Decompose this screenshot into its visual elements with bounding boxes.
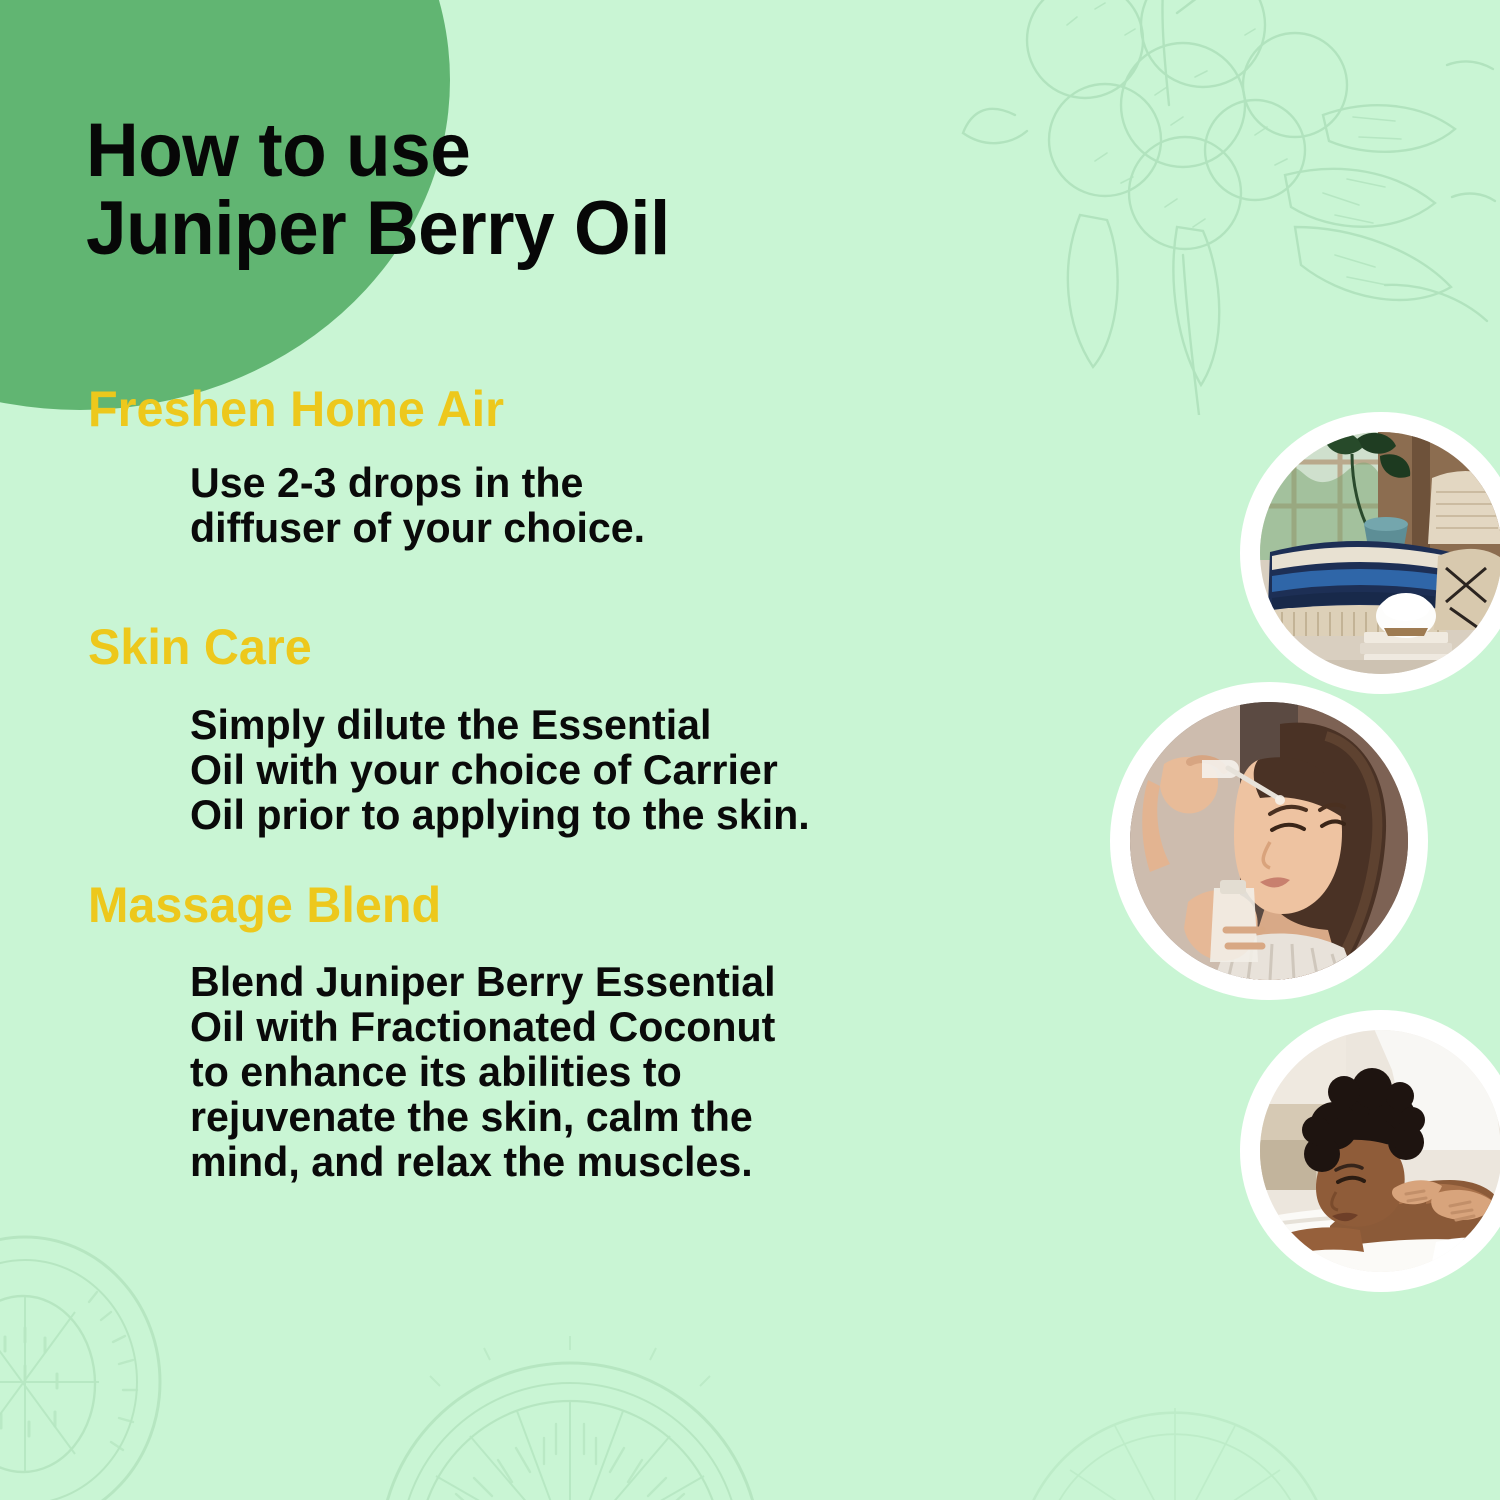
infographic-content: How to use Juniper Berry Oil Freshen Hom… bbox=[0, 0, 1500, 1500]
section-freshen-home-air: Freshen Home Air Use 2-3 drops in the di… bbox=[0, 382, 1020, 550]
photo-inner-crop bbox=[1260, 1030, 1500, 1272]
section-body-skin-care: Simply dilute the Essential Oil with you… bbox=[190, 702, 1003, 837]
section-massage-blend: Massage Blend Blend Juniper Berry Essent… bbox=[0, 878, 1020, 1184]
section-skin-care: Skin Care Simply dilute the Essential Oi… bbox=[0, 620, 1020, 837]
section-heading-massage-blend: Massage Blend bbox=[88, 878, 992, 932]
page-title-line-1: How to use bbox=[86, 112, 873, 190]
section-heading-freshen-home-air: Freshen Home Air bbox=[88, 382, 992, 436]
woman-applying-facial-serum-photo bbox=[1110, 682, 1428, 1000]
photo-inner-crop bbox=[1260, 432, 1500, 674]
diffuser-in-living-room-photo bbox=[1240, 412, 1500, 694]
page-title: How to use Juniper Berry Oil bbox=[86, 112, 906, 268]
photo-inner-crop bbox=[1130, 702, 1408, 980]
section-body-freshen-home-air: Use 2-3 drops in the diffuser of your ch… bbox=[190, 460, 1003, 550]
woman-receiving-back-massage-photo bbox=[1240, 1010, 1500, 1292]
page-title-line-2: Juniper Berry Oil bbox=[86, 190, 873, 268]
section-body-massage-blend: Blend Juniper Berry Essential Oil with F… bbox=[190, 959, 1003, 1184]
section-heading-skin-care: Skin Care bbox=[88, 620, 992, 674]
